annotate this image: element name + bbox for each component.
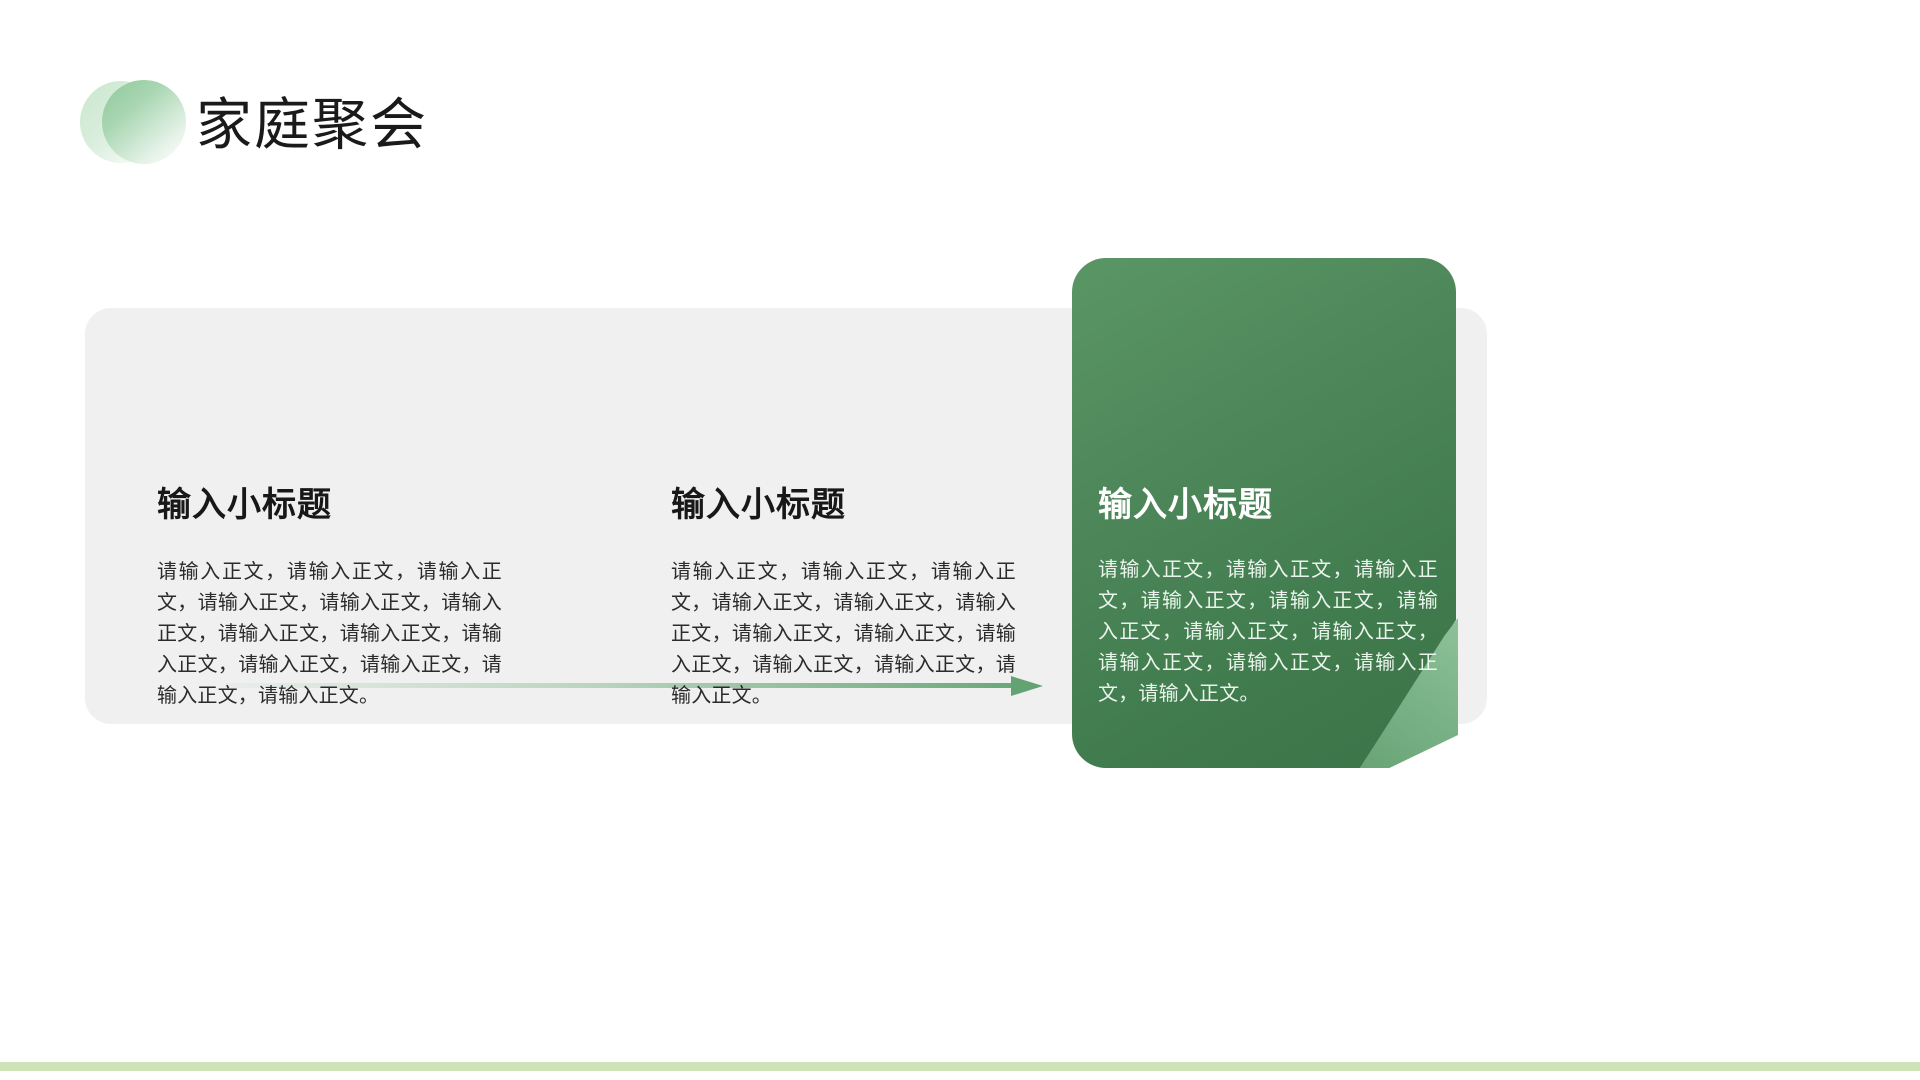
footer-bar-inner bbox=[0, 1071, 1920, 1080]
circle-front-icon bbox=[102, 80, 186, 164]
text-column-3: 输入小标题 请输入正文，请输入正文，请输入正文，请输入正文，请输入正文，请输入正… bbox=[1098, 483, 1438, 710]
column-1-body: 请输入正文，请输入正文，请输入正文，请输入正文，请输入正文，请输入正文，请输入正… bbox=[157, 557, 502, 712]
text-column-2: 输入小标题 请输入正文，请输入正文，请输入正文，请输入正文，请输入正文，请输入正… bbox=[671, 483, 1016, 712]
page-title: 家庭聚会 bbox=[196, 92, 428, 160]
highlight-card[interactable]: 输入小标题 请输入正文，请输入正文，请输入正文，请输入正文，请输入正文，请输入正… bbox=[1072, 258, 1456, 768]
column-3-body: 请输入正文，请输入正文，请输入正文，请输入正文，请输入正文，请输入正文，请输入正… bbox=[1098, 555, 1438, 710]
text-column-1: 输入小标题 请输入正文，请输入正文，请输入正文，请输入正文，请输入正文，请输入正… bbox=[157, 483, 502, 712]
column-3-heading: 输入小标题 bbox=[1098, 483, 1438, 527]
column-2-heading: 输入小标题 bbox=[671, 483, 1016, 527]
column-1-heading: 输入小标题 bbox=[157, 483, 502, 527]
brand-logo bbox=[80, 80, 180, 170]
column-2-body: 请输入正文，请输入正文，请输入正文，请输入正文，请输入正文，请输入正文，请输入正… bbox=[671, 557, 1016, 712]
footer-bar bbox=[0, 1062, 1920, 1080]
slide-canvas: 家庭聚会 输入小标题 请输入正文，请输入正文，请输入正文，请输入正文，请输入正文… bbox=[0, 0, 1920, 1080]
